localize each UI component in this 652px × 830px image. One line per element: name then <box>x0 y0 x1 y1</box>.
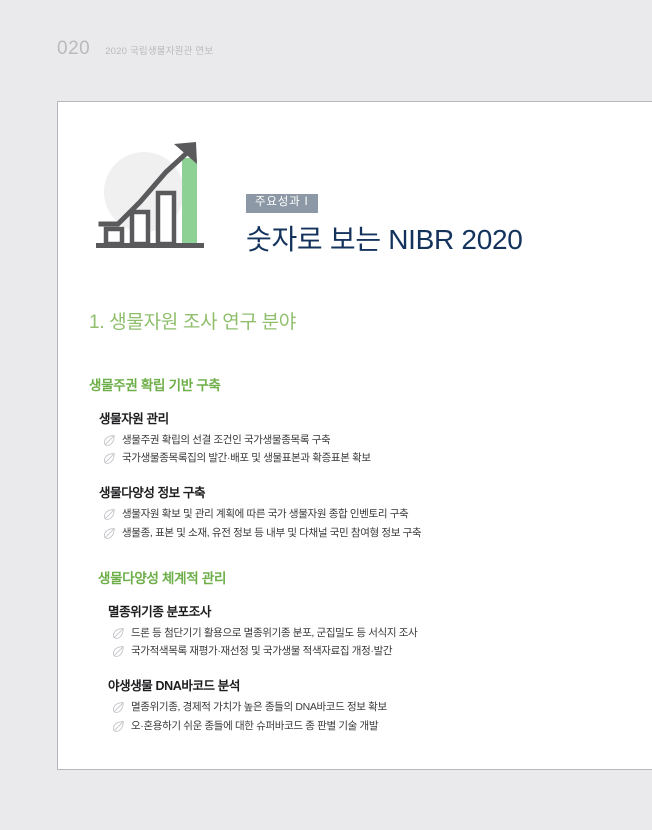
topic-title: 멸종위기종 분포조사 <box>108 601 618 620</box>
bullet-text: 국가생물종목록집의 발간·배포 및 생물표본과 확증표본 확보 <box>122 451 371 465</box>
content-card: 주요성과 I 숫자로 보는 NIBR 2020 1. 생물자원 조사 연구 분야… <box>57 101 652 770</box>
bullet-text: 멸종위기종, 경제적 가치가 높은 종들의 DNA바코드 정보 확보 <box>131 700 387 714</box>
page-title: 숫자로 보는 NIBR 2020 <box>246 223 616 257</box>
bullet-text: 생물종, 표본 및 소재, 유전 정보 등 내부 및 다채널 국민 참여형 정보… <box>122 526 421 540</box>
content-group-1: 생물주권 확립 기반 구축 생물자원 관리 생물주권 확립의 선결 조건인 국가… <box>89 374 609 540</box>
group-title: 생물주권 확립 기반 구축 <box>89 374 609 394</box>
bullet-text: 드론 등 첨단기기 활용으로 멸종위기종 분포, 군집밀도 등 서식지 조사 <box>131 626 417 640</box>
bullet-list: 드론 등 첨단기기 활용으로 멸종위기종 분포, 군집밀도 등 서식지 조사 국… <box>98 626 618 658</box>
bullet-text: 생물자원 확보 및 관리 계획에 따른 국가 생물자원 종합 인벤토리 구축 <box>122 507 408 521</box>
leaf-bullet-icon <box>103 452 116 465</box>
list-item: 드론 등 첨단기기 활용으로 멸종위기종 분포, 군집밀도 등 서식지 조사 <box>98 626 618 640</box>
leaf-bullet-icon <box>112 627 125 640</box>
list-item: 생물종, 표본 및 소재, 유전 정보 등 내부 및 다채널 국민 참여형 정보… <box>89 526 609 540</box>
bullet-text: 생물주권 확립의 선결 조건인 국가생물종목록 구축 <box>122 433 330 447</box>
leaf-bullet-icon <box>103 434 116 447</box>
topic-title: 생물자원 관리 <box>99 408 609 427</box>
list-item: 국가생물종목록집의 발간·배포 및 생물표본과 확증표본 확보 <box>89 451 609 465</box>
leaf-bullet-icon <box>103 508 116 521</box>
list-item: 국가적색목록 재평가·재선정 및 국가생물 적색자료집 개정·발간 <box>98 644 618 658</box>
bullet-list: 생물주권 확립의 선결 조건인 국가생물종목록 구축 국가생물종목록집의 발간·… <box>89 433 609 465</box>
growth-bar-chart-icon <box>96 140 204 252</box>
topic-block: 생물다양성 정보 구축 생물자원 확보 및 관리 계획에 따른 국가 생물자원 … <box>89 482 609 539</box>
topic-title: 야생생물 DNA바코드 분석 <box>108 675 618 694</box>
content-group-2: 생물다양성 체계적 관리 멸종위기종 분포조사 드론 등 첨단기기 활용으로 멸… <box>98 567 618 733</box>
leaf-bullet-icon <box>103 527 116 540</box>
leaf-bullet-icon <box>112 720 125 733</box>
topic-block: 멸종위기종 분포조사 드론 등 첨단기기 활용으로 멸종위기종 분포, 군집밀도… <box>98 601 618 658</box>
title-text-wrap: 주요성과 I 숫자로 보는 NIBR 2020 <box>246 192 616 256</box>
bullet-text: 오·혼용하기 쉬운 종들에 대한 슈퍼바코드 종 판별 기술 개발 <box>131 719 378 733</box>
page-folio-number: 020 <box>57 38 90 60</box>
topic-title: 생물다양성 정보 구축 <box>99 482 609 501</box>
list-item: 생물자원 확보 및 관리 계획에 따른 국가 생물자원 종합 인벤토리 구축 <box>89 507 609 521</box>
list-item: 멸종위기종, 경제적 가치가 높은 종들의 DNA바코드 정보 확보 <box>98 700 618 714</box>
achievement-badge: 주요성과 I <box>246 194 318 213</box>
leaf-bullet-icon <box>112 701 125 714</box>
section-heading: 1. 생물자원 조사 연구 분야 <box>89 307 296 334</box>
topic-block: 야생생물 DNA바코드 분석 멸종위기종, 경제적 가치가 높은 종들의 DNA… <box>98 675 618 732</box>
group-title: 생물다양성 체계적 관리 <box>98 567 618 587</box>
leaf-bullet-icon <box>112 645 125 658</box>
list-item: 오·혼용하기 쉬운 종들에 대한 슈퍼바코드 종 판별 기술 개발 <box>98 719 618 733</box>
running-header-title: 2020 국립생물자원관 연보 <box>105 43 213 57</box>
bullet-list: 멸종위기종, 경제적 가치가 높은 종들의 DNA바코드 정보 확보 오·혼용하… <box>98 700 618 732</box>
topic-block: 생물자원 관리 생물주권 확립의 선결 조건인 국가생물종목록 구축 <box>89 408 609 465</box>
running-header: 020 2020 국립생물자원관 연보 <box>0 38 652 68</box>
bullet-text: 국가적색목록 재평가·재선정 및 국가생물 적색자료집 개정·발간 <box>131 644 392 658</box>
title-block: 주요성과 I 숫자로 보는 NIBR 2020 <box>96 140 616 265</box>
list-item: 생물주권 확립의 선결 조건인 국가생물종목록 구축 <box>89 433 609 447</box>
bullet-list: 생물자원 확보 및 관리 계획에 따른 국가 생물자원 종합 인벤토리 구축 생… <box>89 507 609 539</box>
